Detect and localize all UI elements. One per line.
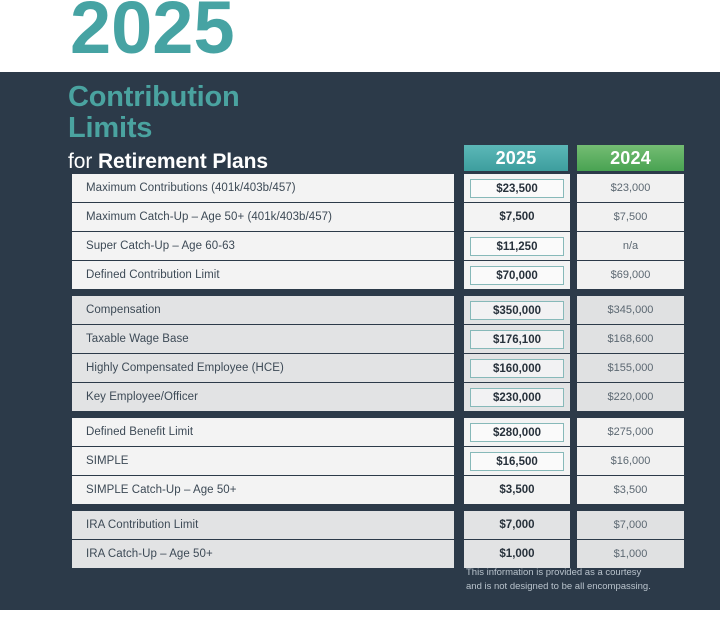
value-2025-highlighted: $350,000: [464, 296, 570, 324]
row-label: SIMPLE Catch-Up – Age 50+: [72, 476, 454, 504]
value-2024: $155,000: [577, 354, 684, 382]
value-2024: $345,000: [577, 296, 684, 324]
value-2024: $23,000: [577, 174, 684, 202]
table-row: Defined Contribution Limit$70,000$69,000: [72, 261, 684, 289]
row-label: Key Employee/Officer: [72, 383, 454, 411]
value-2024: $1,000: [577, 540, 684, 568]
footer-disclaimer: This information is provided as a courte…: [466, 566, 706, 594]
value-2025-text: $16,500: [470, 452, 564, 471]
value-2025: $1,000: [464, 540, 570, 568]
value-2025-highlighted: $176,100: [464, 325, 570, 353]
value-2025-highlighted: $23,500: [464, 174, 570, 202]
value-2025-highlighted: $11,250: [464, 232, 570, 260]
row-group: IRA Contribution Limit$7,000$7,000IRA Ca…: [72, 511, 684, 568]
value-2025-text: $11,250: [470, 237, 564, 256]
value-2024: $16,000: [577, 447, 684, 475]
value-2024: $7,500: [577, 203, 684, 231]
value-2024: n/a: [577, 232, 684, 260]
table-row: Compensation$350,000$345,000: [72, 296, 684, 324]
column-header-2024: 2024: [577, 145, 684, 171]
value-2025-text: $23,500: [470, 179, 564, 198]
value-2025-highlighted: $230,000: [464, 383, 570, 411]
limits-table: Maximum Contributions (401k/403b/457)$23…: [72, 174, 684, 575]
headline-block: Contribution Limits for Retirement Plans: [68, 82, 468, 174]
footer-line-1: This information is provided as a courte…: [466, 566, 706, 580]
row-group: Compensation$350,000$345,000Taxable Wage…: [72, 296, 684, 411]
top-white-band: 2025: [0, 0, 720, 72]
headline-line-2: Limits: [68, 113, 468, 144]
subtitle-prefix: for: [68, 150, 98, 173]
value-2025-text: $3,500: [470, 481, 564, 500]
value-2024: $7,000: [577, 511, 684, 539]
value-2024: $168,600: [577, 325, 684, 353]
row-label: IRA Contribution Limit: [72, 511, 454, 539]
value-2025-text: $176,100: [470, 330, 564, 349]
table-row: Highly Compensated Employee (HCE)$160,00…: [72, 354, 684, 382]
row-label: Defined Benefit Limit: [72, 418, 454, 446]
footer-line-2: and is not designed to be all encompassi…: [466, 580, 706, 594]
value-2024: $275,000: [577, 418, 684, 446]
value-2025-highlighted: $280,000: [464, 418, 570, 446]
row-label: Compensation: [72, 296, 454, 324]
value-2024: $3,500: [577, 476, 684, 504]
table-row: IRA Contribution Limit$7,000$7,000: [72, 511, 684, 539]
value-2025-text: $1,000: [470, 545, 564, 564]
value-2025-text: $350,000: [470, 301, 564, 320]
infographic-page: 2025 Contribution Limits for Retirement …: [0, 0, 720, 618]
subtitle-strong: Retirement Plans: [98, 150, 268, 173]
row-label: Highly Compensated Employee (HCE): [72, 354, 454, 382]
value-2025-highlighted: $16,500: [464, 447, 570, 475]
row-label: Maximum Catch-Up – Age 50+ (401k/403b/45…: [72, 203, 454, 231]
row-group: Maximum Contributions (401k/403b/457)$23…: [72, 174, 684, 289]
table-row: Taxable Wage Base$176,100$168,600: [72, 325, 684, 353]
value-2025-text: $7,000: [470, 516, 564, 535]
value-2025-text: $160,000: [470, 359, 564, 378]
table-row: Super Catch-Up – Age 60-63$11,250n/a: [72, 232, 684, 260]
column-header-2025: 2025: [464, 145, 568, 171]
table-row: Maximum Contributions (401k/403b/457)$23…: [72, 174, 684, 202]
row-label: Taxable Wage Base: [72, 325, 454, 353]
value-2025: $3,500: [464, 476, 570, 504]
column-header-row: 2025 2024: [464, 145, 684, 171]
table-row: Key Employee/Officer$230,000$220,000: [72, 383, 684, 411]
value-2025-text: $70,000: [470, 266, 564, 285]
value-2025: $7,500: [464, 203, 570, 231]
table-row: SIMPLE$16,500$16,000: [72, 447, 684, 475]
value-2025-highlighted: $70,000: [464, 261, 570, 289]
table-row: SIMPLE Catch-Up – Age 50+$3,500$3,500: [72, 476, 684, 504]
row-group: Defined Benefit Limit$280,000$275,000SIM…: [72, 418, 684, 504]
value-2025: $7,000: [464, 511, 570, 539]
table-row: Defined Benefit Limit$280,000$275,000: [72, 418, 684, 446]
row-label: Defined Contribution Limit: [72, 261, 454, 289]
value-2025-text: $230,000: [470, 388, 564, 407]
bottom-white-strip: [0, 610, 720, 618]
value-2024: $69,000: [577, 261, 684, 289]
row-label: IRA Catch-Up – Age 50+: [72, 540, 454, 568]
value-2024: $220,000: [577, 383, 684, 411]
row-label: Maximum Contributions (401k/403b/457): [72, 174, 454, 202]
value-2025-text: $280,000: [470, 423, 564, 442]
row-label: SIMPLE: [72, 447, 454, 475]
headline-line-1: Contribution: [68, 82, 468, 113]
table-row: IRA Catch-Up – Age 50+$1,000$1,000: [72, 540, 684, 568]
value-2025-text: $7,500: [470, 208, 564, 227]
headline-subtitle: for Retirement Plans: [68, 150, 468, 174]
table-row: Maximum Catch-Up – Age 50+ (401k/403b/45…: [72, 203, 684, 231]
value-2025-highlighted: $160,000: [464, 354, 570, 382]
row-label: Super Catch-Up – Age 60-63: [72, 232, 454, 260]
big-year-heading: 2025: [70, 0, 235, 65]
